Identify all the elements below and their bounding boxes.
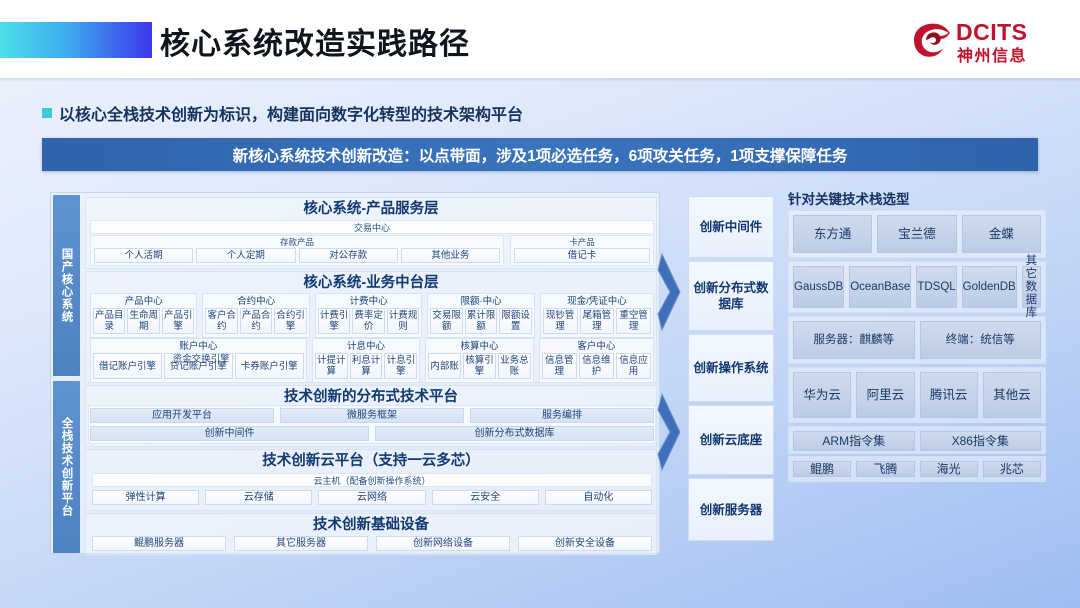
section-bullet-label: 以核心全栈技术创新为标识，构建面向数字化转型的技术架构平台: [59, 101, 523, 125]
vendor-block-middleware: 东方通 宝兰德 金蝶: [788, 210, 1046, 258]
center-card[interactable]: 计费中心 计费引擎 费率定价 计费规则: [315, 293, 422, 338]
center-title: 产品中心: [93, 295, 194, 308]
card-product-items: 借记卡: [511, 248, 653, 265]
task-card-server[interactable]: 创新服务器: [688, 478, 774, 541]
center-item[interactable]: 产品目录: [93, 308, 125, 334]
header-accent-bar: [0, 22, 152, 58]
dcits-logo: DCITS 神州信息: [910, 18, 1040, 62]
vendor-item[interactable]: 其它数据库: [1022, 266, 1041, 308]
layer-cloud-platform-title: 技术创新云平台（支持一云多芯）: [86, 450, 656, 474]
center-title: 计费中心: [318, 295, 419, 308]
vendor-item[interactable]: GoldenDB: [962, 266, 1017, 308]
flow-arrow-icon: [656, 252, 682, 332]
layer-infrastructure-title: 技术创新基础设备: [86, 514, 656, 538]
section-bullet: 以核心全栈技术创新为标识，构建面向数字化转型的技术架构平台: [42, 101, 523, 125]
cloud-item[interactable]: 弹性计算: [92, 490, 199, 505]
center-card[interactable]: 计息中心 计提计算 利息计算 计息引擎: [312, 338, 420, 383]
chip-item[interactable]: 飞腾: [856, 461, 914, 477]
tech-stack-selection-title: 针对关键技术栈选型: [788, 188, 910, 208]
vendor-item[interactable]: 阿里云: [856, 372, 914, 418]
cloud-item[interactable]: 自动化: [545, 490, 652, 505]
center-item[interactable]: 计提计算: [315, 353, 348, 379]
slide-header: 核心系统改造实践路径 DCITS 神州信息: [0, 0, 1080, 78]
vendor-item[interactable]: 东方通: [793, 215, 872, 253]
product-cell[interactable]: 个人定期: [196, 248, 295, 263]
center-card[interactable]: 现金/凭证中心 现钞管理 尾箱管理 重空管理: [540, 293, 654, 338]
product-cell[interactable]: 个人活期: [94, 248, 193, 263]
center-item[interactable]: 信息管理: [542, 353, 577, 379]
layer-product-service: 核心系统-产品服务层 交易中心 存款产品 个人活期 个人定期 对公存款 其他业务…: [85, 197, 657, 269]
center-card[interactable]: 客户中心 信息管理 信息维护 信息应用: [539, 338, 654, 383]
trade-center-bar: 交易中心: [90, 220, 654, 234]
fund-exchange-engine-overlap-label: 资金交换引擎: [173, 354, 230, 365]
platform-item[interactable]: 创新分布式数据库: [375, 426, 654, 441]
highlight-banner-label: 新核心系统技术创新改造：以点带面，涉及1项必选任务，6项攻关任务，1项支撑保障任…: [233, 144, 848, 166]
infra-item[interactable]: 创新安全设备: [518, 536, 652, 551]
platform-item[interactable]: 创新中间件: [90, 426, 369, 441]
cloud-item[interactable]: 云存储: [205, 490, 312, 505]
architecture-panel: 国产核心系统 全栈技术创新平台 核心系统-产品服务层 交易中心 存款产品 个人活…: [50, 192, 660, 554]
business-center-row-2: 账户中心 借记账户引擎 贷记账户引擎 卡券账户引擎 资金交换引擎 计息中心 计提…: [86, 338, 658, 383]
infrastructure-items: 鲲鹏服务器 其它服务器 创新网络设备 创新安全设备: [92, 536, 652, 551]
distributed-platform-row-2: 创新中间件 创新分布式数据库: [90, 426, 654, 441]
center-item[interactable]: 产品引擎: [162, 308, 194, 334]
center-card[interactable]: 合约中心 客户合约 产品合约 合约引擎: [202, 293, 309, 338]
center-item[interactable]: 计费引擎: [318, 308, 350, 334]
center-item[interactable]: 卡券账户引擎: [235, 353, 304, 379]
vendor-item[interactable]: 腾讯云: [920, 372, 978, 418]
center-title: 合约中心: [205, 295, 306, 308]
center-item[interactable]: 利息计算: [350, 353, 383, 379]
center-card[interactable]: 限额·中心 交易限额 累计限额 限额设置: [427, 293, 534, 338]
product-cell[interactable]: 借记卡: [514, 248, 650, 263]
vendor-block-instruction-sets: ARM指令集 X86指令集: [788, 426, 1046, 454]
task-card-cloud-foundation[interactable]: 创新云底座: [688, 405, 774, 475]
vendor-item[interactable]: 服务器：麒麟等: [793, 321, 915, 359]
cloud-platform-items: 弹性计算 云存储 云网络 云安全 自动化: [92, 490, 652, 505]
center-item[interactable]: 信息维护: [579, 353, 614, 379]
highlight-banner: 新核心系统技术创新改造：以点带面，涉及1项必选任务，6项攻关任务，1项支撑保障任…: [42, 138, 1038, 171]
bullet-square-icon: [42, 108, 52, 118]
center-item[interactable]: 借记账户引擎: [93, 353, 162, 379]
platform-item[interactable]: 微服务框架: [280, 408, 464, 423]
tech-stack-selection-column: 东方通 宝兰德 金蝶 GaussDB OceanBase TDSQL Golde…: [788, 210, 1046, 485]
distributed-platform-row-1: 应用开发平台 微服务框架 服务编排: [90, 408, 654, 423]
center-item[interactable]: 生命周期: [127, 308, 159, 334]
platform-item[interactable]: 服务编排: [470, 408, 654, 423]
layer-cloud-platform: 技术创新云平台（支持一云多芯） 云主机（配备创新操作系统） 弹性计算 云存储 云…: [85, 449, 657, 511]
center-item[interactable]: 计息引擎: [384, 353, 417, 379]
center-item[interactable]: 内部账: [428, 353, 461, 379]
deposit-product-group: 存款产品 个人活期 个人定期 对公存款 其他业务: [90, 235, 504, 266]
center-card[interactable]: 核算中心 内部账 核算引擎 业务总账: [425, 338, 533, 383]
layer-distributed-platform: 技术创新的分布式技术平台 应用开发平台 微服务框架 服务编排 创新中间件 创新分…: [85, 385, 657, 447]
page-title: 核心系统改造实践路径: [160, 19, 470, 63]
layer-product-service-title: 核心系统-产品服务层: [86, 198, 656, 222]
platform-item[interactable]: 应用开发平台: [90, 408, 274, 423]
center-card[interactable]: 产品中心 产品目录 生命周期 产品引擎: [90, 293, 197, 338]
center-item[interactable]: 信息应用: [616, 353, 651, 379]
center-item[interactable]: 限额设置: [499, 308, 531, 334]
center-title: 现金/凭证中心: [543, 295, 651, 308]
center-title: 客户中心: [542, 340, 651, 353]
product-cell[interactable]: 对公存款: [299, 248, 398, 263]
innovation-task-column: 创新中间件 创新分布式数据库 创新操作系统 创新云底座 创新服务器: [688, 196, 774, 544]
center-item[interactable]: 计费规则: [387, 308, 419, 334]
task-card-middleware[interactable]: 创新中间件: [688, 196, 774, 258]
vendor-item[interactable]: 华为云: [793, 372, 851, 418]
center-title: 计息中心: [315, 340, 417, 353]
center-item[interactable]: 客户合约: [205, 308, 237, 334]
layer-business-middle: 核心系统-业务中台层 产品中心 产品目录 生命周期 产品引擎 合约中心 客户合约…: [85, 271, 657, 383]
deposit-product-label: 存款产品: [91, 236, 503, 248]
instruction-set-item[interactable]: ARM指令集: [793, 431, 915, 451]
vendor-block-database: GaussDB OceanBase TDSQL GoldenDB 其它数据库: [788, 261, 1046, 313]
center-item[interactable]: 合约引擎: [274, 308, 306, 334]
flow-arrow-icon: [656, 392, 682, 472]
chip-item[interactable]: 兆芯: [983, 461, 1041, 477]
vertical-label-fullstack-platform: 全栈技术创新平台: [53, 381, 80, 553]
center-title: 限额·中心: [430, 295, 531, 308]
logo-text-cn: 神州信息: [957, 42, 1027, 66]
product-cell[interactable]: 其他业务: [401, 248, 500, 263]
center-item[interactable]: 现钞管理: [543, 308, 578, 334]
infra-item[interactable]: 其它服务器: [234, 536, 368, 551]
chip-item[interactable]: 海光: [920, 461, 978, 477]
dcits-swoosh-icon: [910, 20, 952, 60]
infra-item[interactable]: 鲲鹏服务器: [92, 536, 226, 551]
center-item[interactable]: 交易限额: [430, 308, 462, 334]
card-product-group: 卡产品 借记卡: [510, 235, 654, 266]
deposit-product-items: 个人活期 个人定期 对公存款 其他业务: [91, 248, 503, 265]
header-shadow: [0, 78, 1080, 82]
vendor-block-chips: 鲲鹏 飞腾 海光 兆芯: [788, 456, 1046, 482]
center-title: 账户中心: [93, 340, 304, 353]
center-title: 核算中心: [428, 340, 530, 353]
center-card[interactable]: 账户中心 借记账户引擎 贷记账户引擎 卡券账户引擎 资金交换引擎: [90, 338, 307, 383]
cloud-item[interactable]: 云网络: [318, 490, 425, 505]
vendor-block-cloud: 华为云 阿里云 腾讯云 其他云: [788, 367, 1046, 423]
vendor-item[interactable]: 宝兰德: [877, 215, 956, 253]
vendor-item[interactable]: TDSQL: [916, 266, 956, 308]
center-item[interactable]: 累计限额: [465, 308, 497, 334]
chip-item[interactable]: 鲲鹏: [793, 461, 851, 477]
vendor-item[interactable]: 其他云: [983, 372, 1041, 418]
vendor-item[interactable]: GaussDB: [793, 266, 844, 308]
instruction-set-item[interactable]: X86指令集: [920, 431, 1042, 451]
vendor-block-operating-system: 服务器：麒麟等 终端：统信等: [788, 316, 1046, 364]
center-item[interactable]: 产品合约: [240, 308, 272, 334]
task-card-distributed-database[interactable]: 创新分布式数据库: [688, 261, 774, 331]
center-item[interactable]: 业务总账: [498, 353, 531, 379]
cloud-item[interactable]: 云安全: [432, 490, 539, 505]
infra-item[interactable]: 创新网络设备: [376, 536, 510, 551]
vendor-item[interactable]: 终端：统信等: [920, 321, 1042, 359]
card-product-label: 卡产品: [511, 236, 653, 248]
center-item[interactable]: 核算引擎: [463, 353, 496, 379]
center-item[interactable]: 重空管理: [616, 308, 651, 334]
vendor-item[interactable]: 金蝶: [962, 215, 1041, 253]
task-card-operating-system[interactable]: 创新操作系统: [688, 334, 774, 402]
business-center-row-1: 产品中心 产品目录 生命周期 产品引擎 合约中心 客户合约 产品合约 合约引擎 …: [86, 293, 658, 338]
cloud-host-bar: 云主机（配备创新操作系统）: [92, 473, 652, 487]
vertical-label-core-system: 国产核心系统: [53, 195, 80, 376]
center-item[interactable]: 费率定价: [352, 308, 384, 334]
center-item[interactable]: 尾箱管理: [580, 308, 615, 334]
vendor-item[interactable]: OceanBase: [849, 266, 911, 308]
layer-infrastructure: 技术创新基础设备 鲲鹏服务器 其它服务器 创新网络设备 创新安全设备: [85, 513, 657, 555]
